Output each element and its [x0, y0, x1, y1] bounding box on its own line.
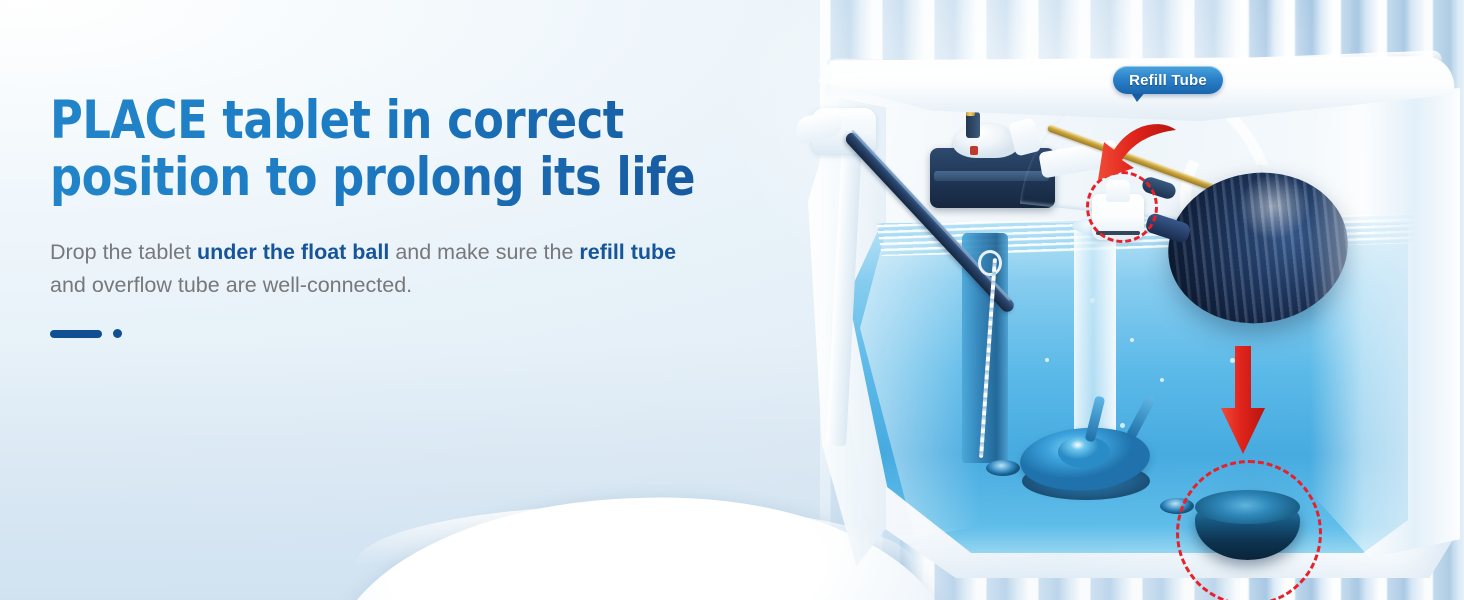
red-arrow-curved-icon	[1090, 120, 1180, 200]
description-emphasis-refill-tube: refill tube	[579, 240, 676, 264]
headline-line-2: position to prolong its life	[50, 149, 783, 206]
chain-hook	[978, 250, 1002, 276]
description-part-1: Drop the tablet	[50, 240, 197, 264]
dashed-circle-tablet	[1176, 460, 1322, 600]
tank-front-gloss	[1310, 88, 1460, 558]
water-bubble	[1045, 358, 1049, 362]
description-part-2: and make sure the	[389, 240, 579, 264]
divider-dot	[113, 329, 122, 338]
water-bubble	[1120, 423, 1125, 428]
divider-bar	[50, 330, 102, 338]
flapper-dome	[1058, 436, 1110, 468]
toilet-tank-illustration	[790, 28, 1464, 588]
tank-bolt-left	[986, 460, 1020, 476]
page-title: PLACE tablet in correct position to prol…	[50, 92, 783, 206]
water-bubble	[1130, 338, 1134, 342]
promo-banner: PLACE tablet in correct position to prol…	[0, 0, 1464, 600]
refill-tube-badge[interactable]: Refill Tube	[1113, 66, 1223, 94]
fill-valve-marker	[970, 146, 978, 155]
water-bubble	[1160, 378, 1164, 382]
headline-line-1: PLACE tablet in correct	[50, 90, 624, 151]
description-line-2: and overflow tube are well-connected.	[50, 273, 412, 297]
refill-tube-badge-label: Refill Tube	[1129, 72, 1207, 89]
description-text: Drop the tablet under the float ball and…	[50, 236, 840, 302]
decorative-divider	[50, 325, 122, 343]
description-emphasis-float-ball: under the float ball	[197, 240, 389, 264]
red-arrow-down-icon	[1220, 346, 1266, 456]
